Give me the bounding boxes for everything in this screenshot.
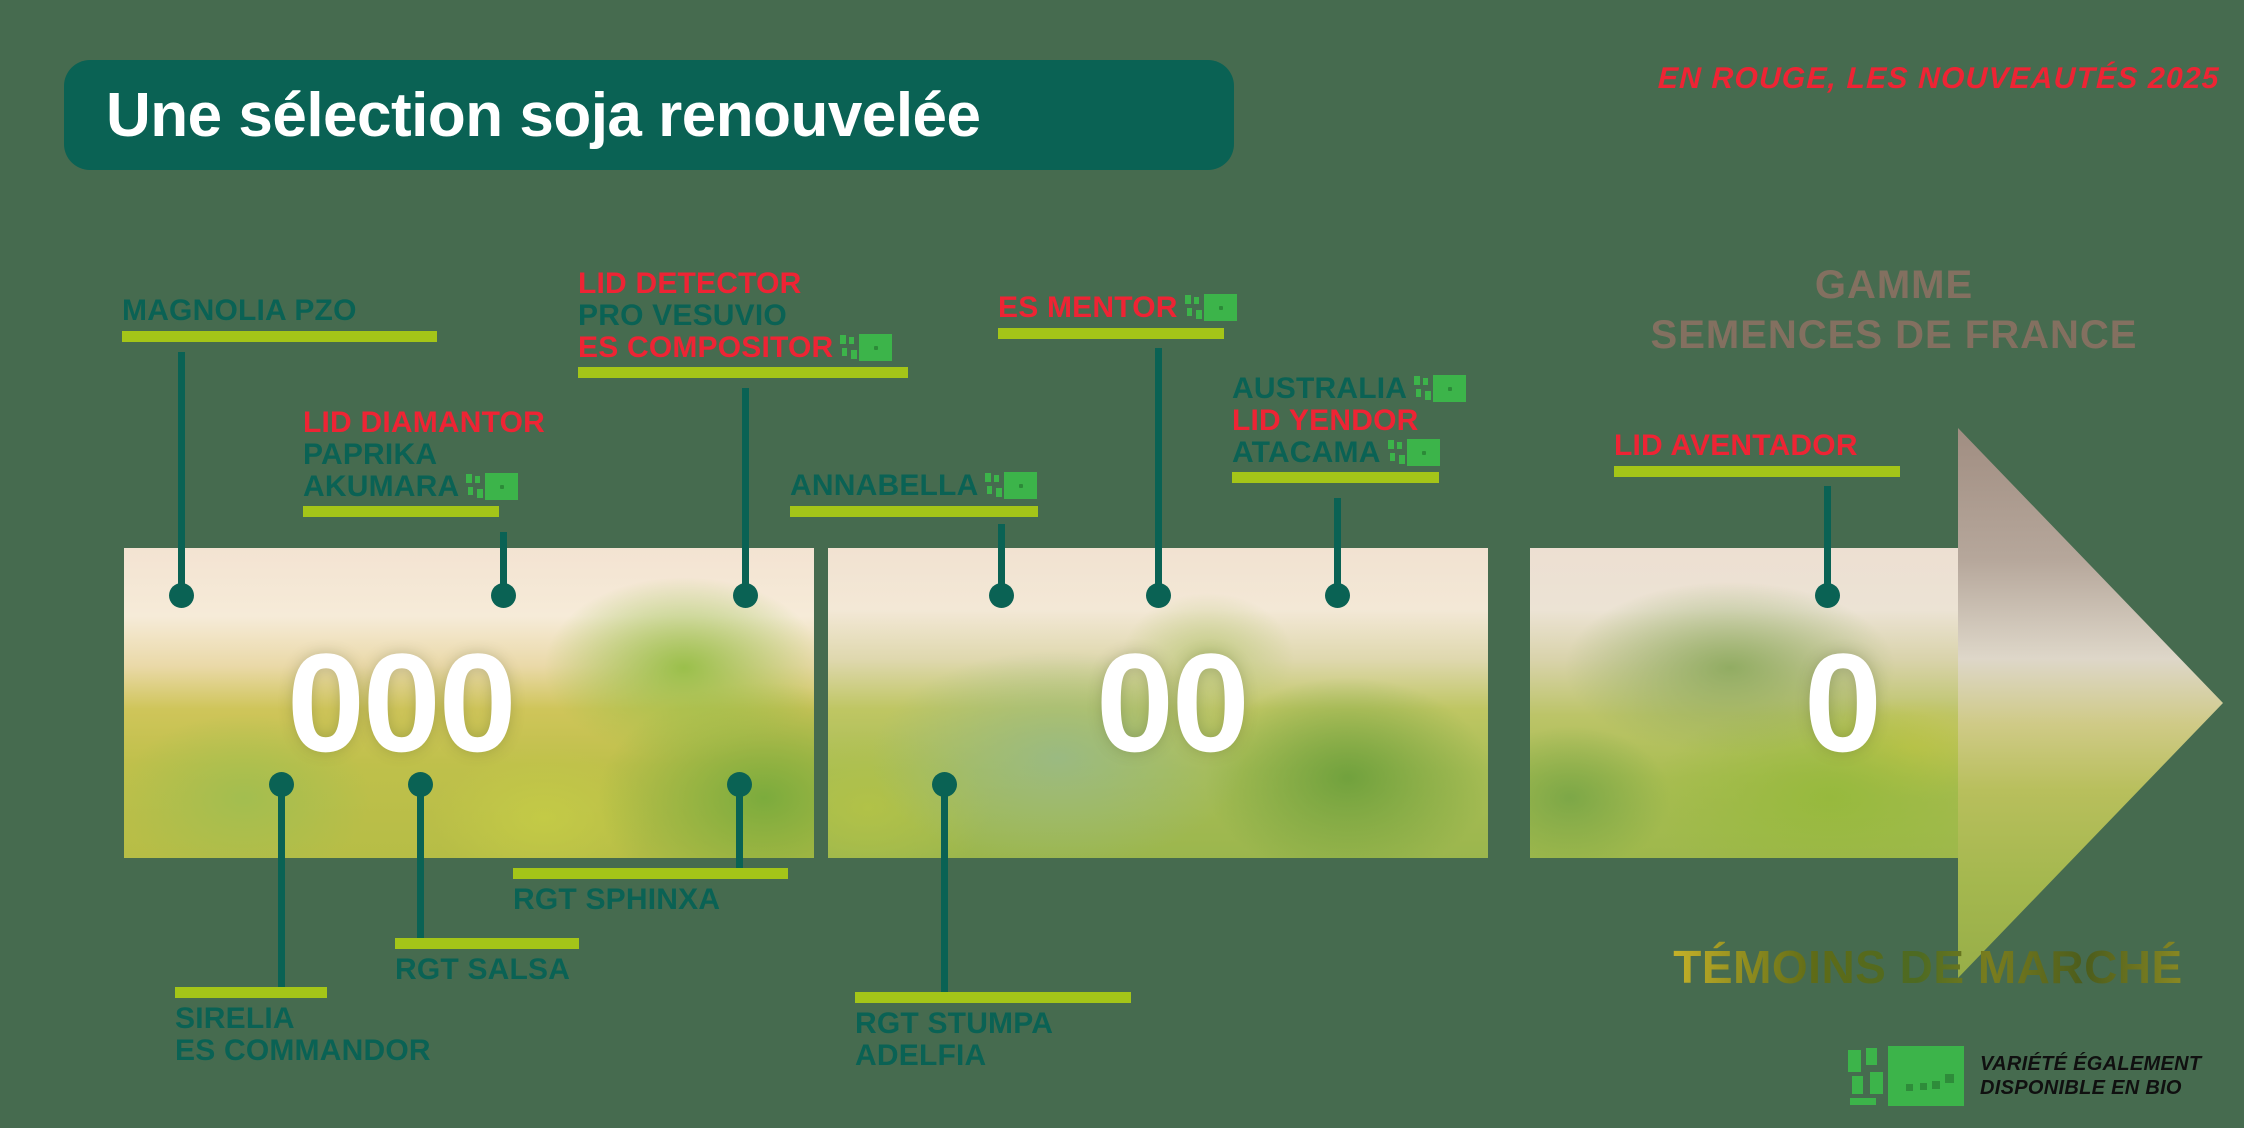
label-sirelia: SIRELIA ES COMMANDOR (175, 987, 431, 1067)
label-magnolia: MAGNOLIA PZO (122, 295, 437, 342)
new-varieties-note: EN ROUGE, LES NOUVEAUTÉS 2025 (1658, 62, 2221, 96)
label-text: ES MENTOR (998, 292, 1178, 324)
connector-line-annabella (998, 524, 1005, 592)
label-line-with-bio: AUSTRALIA (1232, 373, 1466, 405)
bio-legend-line-1: VARIÉTÉ ÉGALEMENT (1980, 1052, 2201, 1076)
label-text: ATACAMA (1232, 437, 1381, 469)
label-line: LID AVENTADOR (1614, 430, 1900, 462)
bio-badge-icon (1388, 439, 1440, 466)
temoins-de-marche-heading: TÉMOINS DE MARCHÉ (1668, 940, 2188, 994)
maturity-arrow-banner: 000 00 0 (0, 548, 2244, 858)
connector-dot-mentor (1146, 583, 1171, 608)
bio-legend-line-2: DISPONIBLE EN BIO (1980, 1076, 2201, 1100)
label-underline (1232, 472, 1439, 483)
label-underline (175, 987, 327, 998)
label-line: LID YENDOR (1232, 405, 1466, 437)
label-line: PAPRIKA (303, 439, 545, 471)
bio-legend: VARIÉTÉ ÉGALEMENT DISPONIBLE EN BIO (1846, 1046, 2201, 1106)
connector-dot-magnolia (169, 583, 194, 608)
label-stumpa: RGT STUMPA ADELFIA (855, 992, 1131, 1072)
connector-dot-salsa (408, 772, 433, 797)
page-title-pill: Une sélection soja renouvelée (64, 60, 1234, 170)
bio-badge-icon (840, 334, 892, 361)
connector-dot-annabella (989, 583, 1014, 608)
connector-dot-diamantor (491, 583, 516, 608)
soy-sprout-photo (1530, 548, 1958, 858)
connector-dot-aventador (1815, 583, 1840, 608)
label-text: ANNABELLA (790, 470, 978, 502)
connector-line-mentor (1155, 348, 1162, 592)
maturity-number: 0 (1804, 633, 1880, 773)
label-line: ES COMMANDOR (175, 1035, 431, 1067)
label-underline (790, 506, 1038, 517)
label-line-with-bio: ES COMPOSITOR (578, 332, 908, 364)
label-underline (1614, 466, 1900, 477)
label-line-with-bio: ATACAMA (1232, 437, 1466, 469)
label-line: PRO VESUVIO (578, 300, 908, 332)
connector-dot-sirelia (269, 772, 294, 797)
bio-badge-icon (1185, 294, 1237, 321)
connector-line-salsa (417, 782, 424, 942)
label-underline (303, 506, 499, 517)
label-detector: LID DETECTOR PRO VESUVIO ES COMPOSITOR (578, 268, 908, 378)
label-sphinxa: RGT SPHINXA (513, 868, 788, 916)
label-line: SIRELIA (175, 1003, 431, 1035)
maturity-panel-000: 000 (124, 548, 814, 858)
gamme-heading: GAMME SEMENCES DE FRANCE (1554, 260, 2234, 360)
label-text: AKUMARA (303, 471, 459, 503)
label-line: RGT SPHINXA (513, 884, 788, 916)
connector-line-magnolia (178, 352, 185, 592)
connector-dot-detector (733, 583, 758, 608)
label-salsa: RGT SALSA (395, 938, 579, 986)
connector-dot-stumpa (932, 772, 957, 797)
connector-line-stumpa (941, 782, 948, 998)
connector-line-sirelia (278, 782, 285, 994)
bio-leaf-logo-icon (1846, 1046, 1964, 1106)
gamme-line-2: SEMENCES DE FRANCE (1554, 310, 2234, 360)
maturity-number: 00 (1096, 633, 1248, 773)
connector-dot-sphinxa (727, 772, 752, 797)
label-line-with-bio: ES MENTOR (998, 292, 1237, 324)
page-title: Une sélection soja renouvelée (106, 80, 981, 151)
label-annabella: ANNABELLA (790, 470, 1038, 517)
connector-line-aventador (1824, 486, 1831, 592)
label-aventador: LID AVENTADOR (1614, 430, 1900, 477)
label-text: AUSTRALIA (1232, 373, 1407, 405)
connector-line-australia (1334, 498, 1341, 592)
connector-dot-australia (1325, 583, 1350, 608)
gamme-line-1: GAMME (1554, 260, 2234, 310)
bio-badge-icon (1414, 375, 1466, 402)
bio-legend-text: VARIÉTÉ ÉGALEMENT DISPONIBLE EN BIO (1980, 1052, 2201, 1101)
label-underline (513, 868, 788, 879)
label-line-with-bio: AKUMARA (303, 471, 545, 503)
label-australia: AUSTRALIA LID YENDOR ATACAMA (1232, 373, 1466, 483)
label-underline (855, 992, 1131, 1003)
label-line: MAGNOLIA PZO (122, 295, 437, 327)
maturity-panel-0: 0 (1530, 548, 1958, 858)
label-line: RGT STUMPA (855, 1008, 1131, 1040)
label-mentor: ES MENTOR (998, 292, 1237, 339)
label-line: LID DIAMANTOR (303, 407, 545, 439)
connector-line-detector (742, 388, 749, 592)
maturity-number: 000 (287, 633, 515, 773)
label-line-with-bio: ANNABELLA (790, 470, 1038, 502)
label-line: ADELFIA (855, 1040, 1131, 1072)
bio-badge-icon (985, 472, 1037, 499)
label-diamantor: LID DIAMANTOR PAPRIKA AKUMARA (303, 407, 545, 517)
label-underline (122, 331, 437, 342)
label-underline (998, 328, 1224, 339)
label-text: ES COMPOSITOR (578, 332, 833, 364)
infographic-canvas: Une sélection soja renouvelée EN ROUGE, … (0, 0, 2244, 1128)
label-underline (395, 938, 579, 949)
label-line: RGT SALSA (395, 954, 579, 986)
right-arrow-head-icon (1958, 428, 2223, 978)
label-underline (578, 367, 908, 378)
bio-badge-icon (466, 473, 518, 500)
label-line: LID DETECTOR (578, 268, 908, 300)
